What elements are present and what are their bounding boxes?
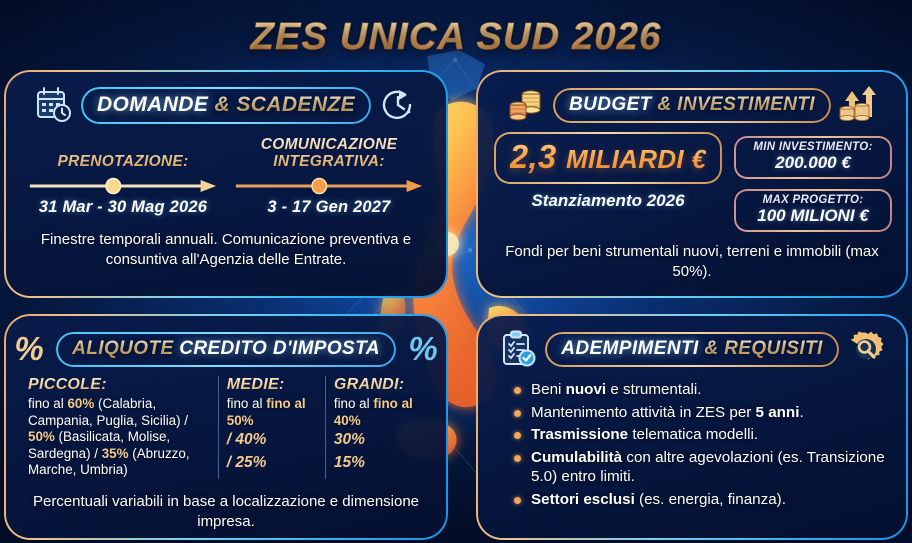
panel-domande-scadenze: DOMANDE & SCADENZE PRENOTAZIONE: (6, 72, 446, 296)
timeline: PRENOTAZIONE: 31 Mar - 30 Mag 2026 COMUN… (20, 134, 432, 217)
panel-header: ADEMPIMENTI & REQUISITI (492, 326, 892, 372)
badge-value: 100 MILIONI € (740, 206, 886, 226)
timeline-item-1: COMUNICAZIONE INTEGRATIVA: 3 - 17 Gen 20… (226, 134, 432, 217)
panel-title-secondary: & INVESTIMENTI (657, 94, 815, 115)
rate-line: / 40% (227, 429, 317, 451)
panel-title-primary: BUDGET (569, 94, 652, 115)
rate-line: / 25% (227, 452, 317, 474)
svg-text:%: % (14, 330, 43, 367)
panel-title-primary: ADEMPIMENTI (561, 338, 698, 359)
rate-line: 15% (334, 452, 424, 474)
panel-budget-investimenti: BUDGET & INVESTIMENTI (478, 72, 906, 296)
budget-amount-block: 2,3 MILIARDI € Stanziamento 2026 (492, 132, 724, 211)
aliquote-columns: PICCOLE: fino al 60% (Calabria, Campania… (20, 376, 432, 479)
badge-value: 200.000 € (740, 153, 886, 173)
column-heading: GRANDI: (334, 376, 424, 394)
coin-stacks-icon (506, 85, 546, 125)
list-item: Settori esclusi (es. energia, finanza). (514, 490, 892, 510)
aliquote-col-medie: MEDIE: fino al fino al 50% / 40% / 25% (218, 376, 325, 479)
panel-title-pill: ADEMPIMENTI & REQUISITI (545, 332, 839, 367)
panel-title-pill: BUDGET & INVESTIMENTI (553, 88, 831, 123)
budget-body: 2,3 MILIARDI € Stanziamento 2026 MIN INV… (492, 132, 892, 232)
panel-note: Percentuali variabili in base a localizz… (20, 492, 432, 532)
calendar-clock-icon (34, 85, 74, 125)
panel-title-pill: ALIQUOTE CREDITO D'IMPOSTA (56, 332, 396, 367)
panel-header: DOMANDE & SCADENZE (20, 82, 432, 128)
column-first-line: fino al fino al 50% (227, 396, 317, 429)
list-item: Beni nuovi e strumentali. (514, 380, 892, 400)
badge-label: MAX PROGETTO: (740, 194, 886, 206)
aliquote-col-piccole: PICCOLE: fino al 60% (Calabria, Campania… (20, 376, 218, 479)
growth-arrows-coins-icon (838, 85, 878, 125)
budget-amount-number: 2,3 (510, 138, 557, 175)
timeline-label: COMUNICAZIONE INTEGRATIVA: (232, 134, 426, 170)
panel-title-secondary: & REQUISITI (704, 338, 822, 359)
timeline-arrow-icon (232, 176, 426, 196)
page-title: ZES UNICA SUD 2026 (0, 16, 912, 59)
panel-header: % ALIQUOTE CREDITO D'IMPOSTA % (20, 326, 432, 372)
list-item: Cumulabilità con altre agevolazioni (es.… (514, 448, 892, 487)
timeline-arrow-icon (26, 176, 220, 196)
column-heading: MEDIE: (227, 376, 317, 394)
svg-text:%: % (408, 330, 437, 367)
percent-cyan-icon: % (403, 329, 443, 369)
panel-title-secondary: CREDITO D'IMPOSTA (179, 338, 380, 359)
panel-note: Finestre temporali annuali. Comunicazion… (20, 230, 432, 270)
rate-value: fino al 50% (227, 396, 306, 428)
budget-badges: MIN INVESTIMENTO: 200.000 € MAX PROGETTO… (734, 132, 892, 232)
aliquote-col-grandi: GRANDI: fino al fino al 40% 30% 15% (325, 376, 432, 479)
panel-title-secondary: & SCADENZE (215, 93, 356, 116)
clipboard-check-icon (498, 329, 538, 369)
panel-note: Fondi per beni strumentali nuovi, terren… (492, 242, 892, 282)
panel-title-pill: DOMANDE & SCADENZE (81, 87, 371, 124)
panel-title-primary: DOMANDE (97, 93, 208, 116)
list-item: Trasmissione telematica modelli. (514, 425, 892, 445)
gear-wrench-icon (846, 329, 886, 369)
budget-amount-box: 2,3 MILIARDI € (494, 132, 722, 184)
budget-amount-unit: MILIARDI € (566, 144, 706, 174)
rate-line: 30% (334, 429, 424, 451)
column-first-line: fino al fino al 40% (334, 396, 424, 429)
panel-title-primary: ALIQUOTE (72, 338, 173, 359)
badge-min-investimento: MIN INVESTIMENTO: 200.000 € (734, 136, 892, 179)
column-text-rich: fino al 60% (Calabria, Campania, Puglia,… (28, 396, 210, 479)
requirements-list: Beni nuovi e strumentali. Mantenimento a… (514, 380, 892, 510)
badge-label: MIN INVESTIMENTO: (740, 141, 886, 153)
panel-adempimenti-requisiti: ADEMPIMENTI & REQUISITI Beni nuovi e str… (478, 316, 906, 538)
clock-refresh-icon (378, 85, 418, 125)
timeline-date: 3 - 17 Gen 2027 (232, 198, 426, 217)
timeline-date: 31 Mar - 30 Mag 2026 (26, 198, 220, 217)
column-heading: PICCOLE: (28, 376, 210, 394)
timeline-item-0: PRENOTAZIONE: 31 Mar - 30 Mag 2026 (20, 134, 226, 217)
percent-gold-icon: % (9, 329, 49, 369)
badge-max-progetto: MAX PROGETTO: 100 MILIONI € (734, 189, 892, 232)
panel-aliquote-credito-imposta: % ALIQUOTE CREDITO D'IMPOSTA % PICCOLE: … (6, 316, 446, 538)
panel-header: BUDGET & INVESTIMENTI (492, 82, 892, 128)
list-item: Mantenimento attività in ZES per 5 anni. (514, 403, 892, 423)
budget-amount-caption: Stanziamento 2026 (492, 191, 724, 211)
rate-value: fino al 40% (334, 396, 413, 428)
timeline-label: PRENOTAZIONE: (26, 134, 220, 170)
